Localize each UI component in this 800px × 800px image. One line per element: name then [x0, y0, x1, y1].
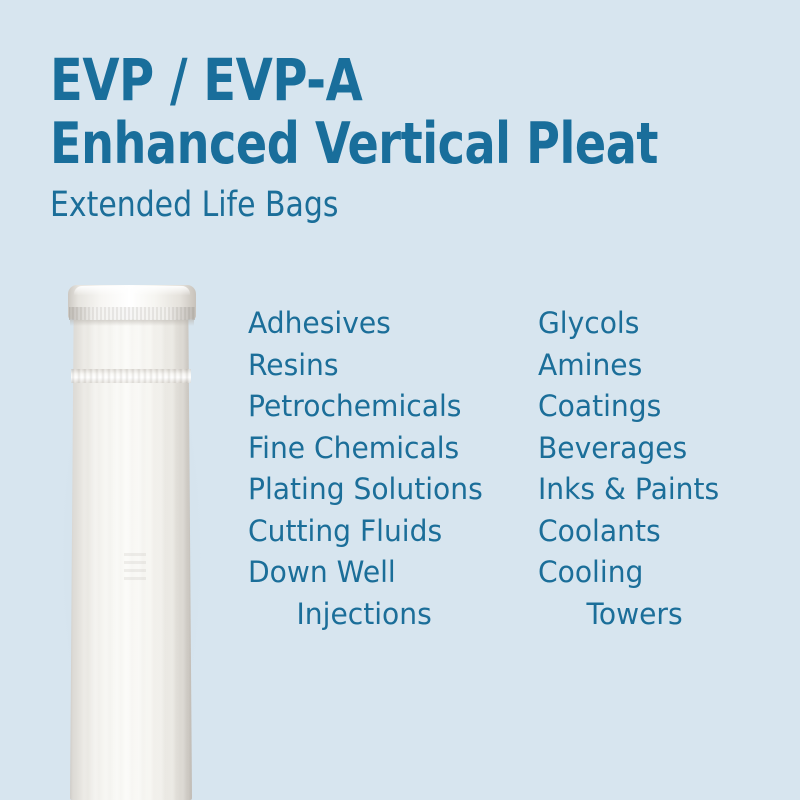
- product-subtitle: Extended Life Bags: [50, 182, 744, 228]
- filter-bag-collar-highlight: [74, 286, 190, 295]
- application-item: Amines: [538, 345, 761, 387]
- application-item: Glycols: [538, 303, 761, 345]
- application-item: Petrochemicals: [248, 386, 529, 428]
- application-item: Towers: [538, 594, 761, 636]
- product-title-line-1: EVP / EVP-A: [50, 48, 722, 112]
- application-item: Injections: [248, 594, 529, 636]
- filter-bag-collar-band-shading: [69, 307, 195, 320]
- application-item: Cutting Fluids: [248, 511, 529, 553]
- applications-column-right: Glycols Amines Coatings Beverages Inks &…: [538, 303, 768, 635]
- application-item: Cooling: [538, 552, 761, 594]
- filter-bag-collar: [68, 285, 196, 319]
- application-item: Inks & Paints: [538, 469, 761, 511]
- application-item: Adhesives: [248, 303, 529, 345]
- applications-list: Adhesives Resins Petrochemicals Fine Che…: [248, 303, 768, 635]
- application-item: Down Well: [248, 552, 529, 594]
- heading-block: EVP / EVP-A Enhanced Vertical Pleat Exte…: [50, 48, 780, 228]
- filter-bag-collar-shadow: [70, 320, 194, 326]
- application-item: Beverages: [538, 428, 761, 470]
- filter-bag-image: [68, 285, 196, 800]
- applications-column-left: Adhesives Resins Petrochemicals Fine Che…: [248, 303, 538, 635]
- product-poster: EVP / EVP-A Enhanced Vertical Pleat Exte…: [0, 0, 800, 800]
- application-item: Coolants: [538, 511, 761, 553]
- application-item: Coatings: [538, 386, 761, 428]
- product-title-line-2: Enhanced Vertical Pleat: [50, 112, 707, 176]
- application-item: Fine Chemicals: [248, 428, 529, 470]
- filter-bag-seam-ribbing: [71, 369, 191, 383]
- filter-bag-surface-marking: [124, 553, 146, 585]
- application-item: Resins: [248, 345, 529, 387]
- application-item: Plating Solutions: [248, 469, 529, 511]
